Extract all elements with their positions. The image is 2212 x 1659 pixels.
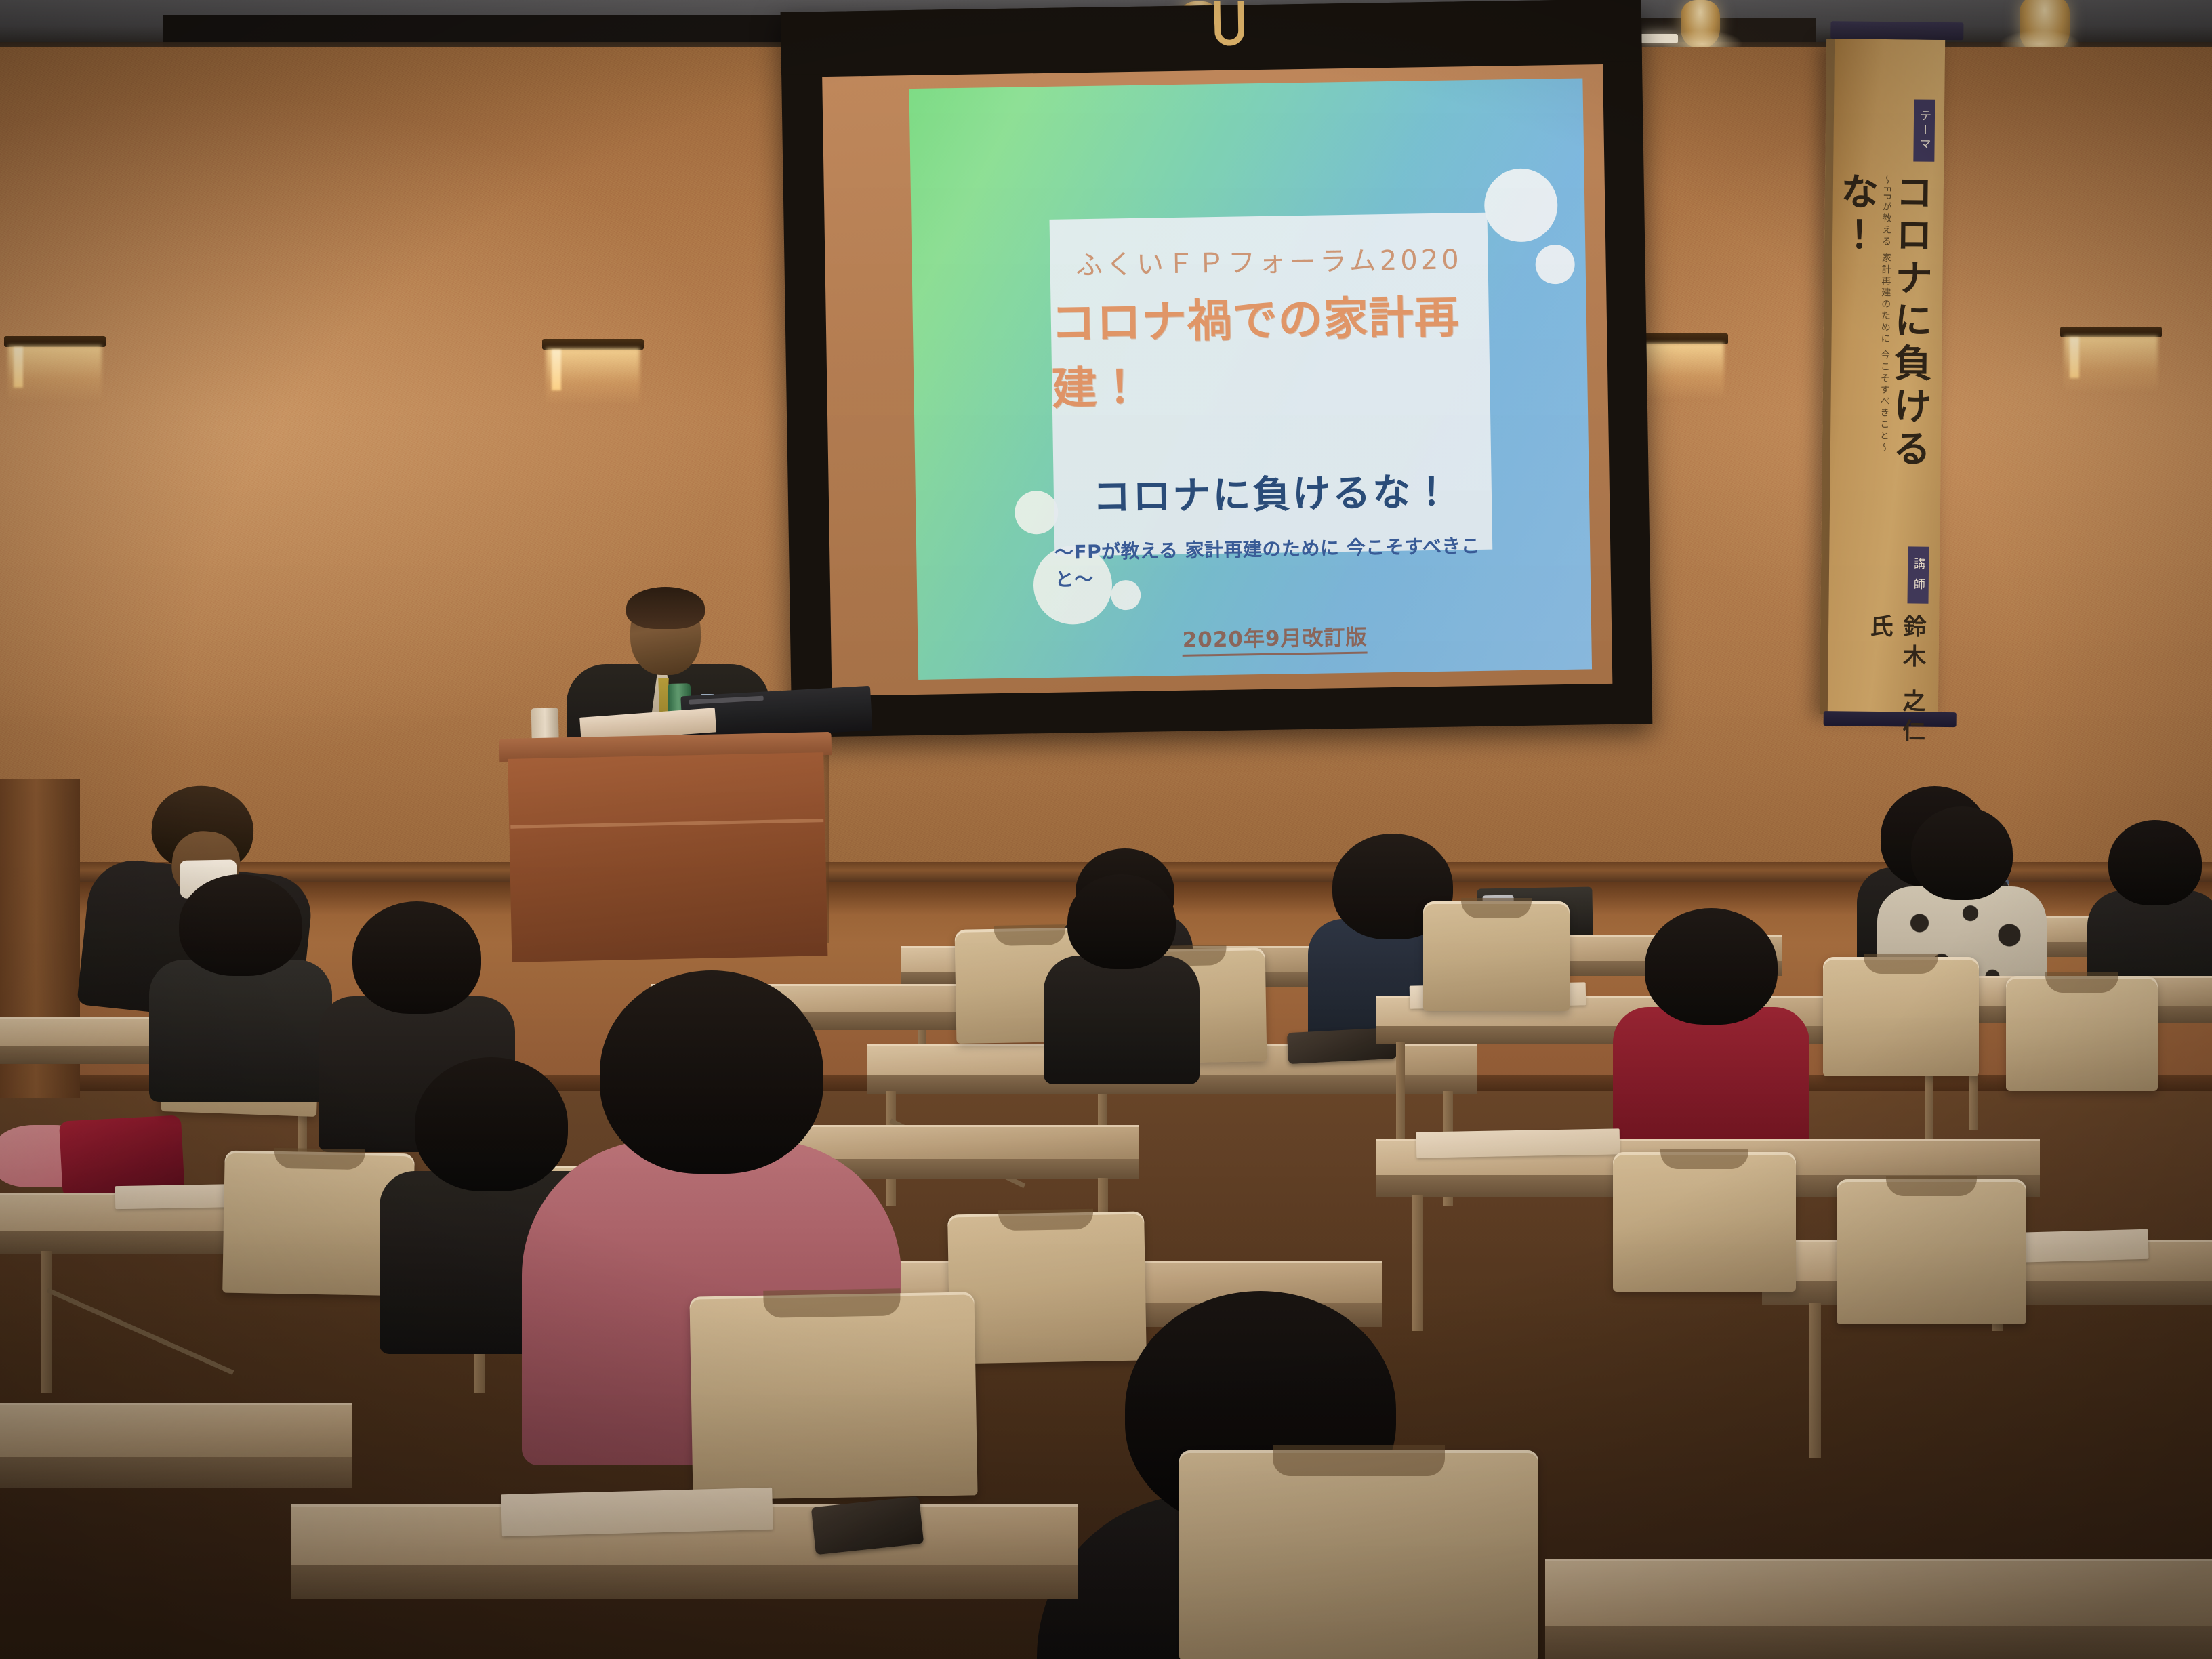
chair[interactable] [2006, 976, 2158, 1091]
bubble-decor [1015, 491, 1059, 535]
chair-notch [1864, 954, 1938, 974]
handout-paper [1416, 1128, 1620, 1158]
chair-notch [274, 1148, 365, 1170]
chair[interactable] [1613, 1152, 1796, 1292]
wall-sconce [2060, 327, 2162, 394]
bubble-decor [1483, 168, 1558, 243]
table-top [0, 1403, 352, 1457]
table-skirt [1545, 1626, 2212, 1659]
ceiling-led-strip [1640, 34, 1678, 43]
table-skirt [291, 1565, 1078, 1599]
chair-notch [1273, 1445, 1445, 1476]
chair[interactable] [1823, 957, 1979, 1076]
sconce-light-strip [2070, 337, 2079, 378]
chair-back [689, 1292, 977, 1500]
banner-speaker-tag: 講 師 [1908, 546, 1929, 603]
attendee-torso [1044, 956, 1200, 1084]
table-top [1545, 1559, 2212, 1626]
banner-rod [1830, 21, 1963, 40]
chair-notch [2045, 972, 2118, 993]
chair-back [1613, 1152, 1796, 1292]
laptop-screen-edge [689, 696, 764, 705]
presenter-hair [626, 587, 705, 629]
screen-hook-icon [1214, 1, 1245, 46]
chair[interactable] [689, 1292, 977, 1500]
chair-back [1837, 1179, 2026, 1324]
table-row-foreground [0, 1403, 352, 1457]
seminar-room-photo: ふくいＦＰフォーラム2020 コロナ禍での家計再建！ コロナに負けるな！ 〜FP… [0, 0, 2212, 1659]
chair-back [2006, 976, 2158, 1091]
table-leg [1809, 1303, 1821, 1458]
chair-notch [1660, 1149, 1748, 1169]
chair[interactable] [1837, 1179, 2026, 1324]
wall-sconce [542, 339, 644, 407]
table-leg [41, 1251, 52, 1393]
sconce-light-strip [552, 350, 561, 390]
attendee-center-seated [1044, 874, 1200, 1078]
attendee-hair [2108, 820, 2202, 905]
projection-screen: ふくいＦＰフォーラム2020 コロナ禍での家計再建！ コロナに負けるな！ 〜FP… [781, 0, 1653, 737]
presentation-slide: ふくいＦＰフォーラム2020 コロナ禍での家計再建！ コロナに負けるな！ 〜FP… [909, 78, 1592, 680]
chair-back [1179, 1450, 1538, 1659]
vertical-banner: テーマ コロナに負けるな！ 〜FPが教える 家計再建のために 今こそすべきこと〜… [1820, 39, 1945, 715]
screen-surround: ふくいＦＰフォーラム2020 コロナ禍での家計再建！ コロナに負けるな！ 〜FP… [822, 64, 1612, 696]
wall-sconce [4, 336, 106, 404]
bubble-decor [1535, 245, 1575, 285]
attendee-hair [179, 874, 302, 976]
lectern-body [508, 752, 827, 962]
attendee-left-back [149, 874, 332, 1098]
lectern [499, 732, 836, 962]
attendee-hair [352, 901, 481, 1014]
attendee-red-top [1613, 908, 1809, 1166]
table-row-foreground [1545, 1559, 2212, 1626]
sconce-light-strip [14, 347, 23, 388]
attendee-hair [1911, 806, 2013, 900]
chair[interactable] [1423, 901, 1570, 1011]
chair-back [1823, 957, 1979, 1076]
slide-revision: 2020年9月改訂版 [1182, 620, 1368, 657]
chair-notch [1886, 1176, 1977, 1196]
slide-tagline: 〜FPが教える 家計再建のために 今こそすべきこと〜 [1054, 531, 1493, 592]
table-leg [1396, 1042, 1405, 1151]
chair[interactable] [1179, 1450, 1538, 1659]
chair-notch [1461, 898, 1532, 918]
chair-notch [998, 1209, 1093, 1231]
table-skirt [0, 1457, 352, 1488]
banner-speaker-name: 鈴木 之仁 氏 [1862, 614, 1929, 764]
chair-notch [763, 1288, 900, 1318]
banner-theme-tag: テーマ [1913, 99, 1935, 161]
attendee-hair [600, 970, 823, 1174]
slide-subtitle: コロナに負けるな！ [1092, 462, 1453, 522]
attendee-hair [1645, 908, 1778, 1025]
handout-paper [501, 1488, 773, 1536]
slide-event-line: ふくいＦＰフォーラム2020 [1076, 237, 1462, 283]
slide-content-card: ふくいＦＰフォーラム2020 コロナ禍での家計再建！ コロナに負けるな！ 〜FP… [1049, 213, 1492, 556]
attendee-torso [149, 960, 332, 1102]
slide-title: コロナ禍での家計再建！ [1050, 280, 1490, 417]
attendee-hair [1067, 874, 1176, 969]
